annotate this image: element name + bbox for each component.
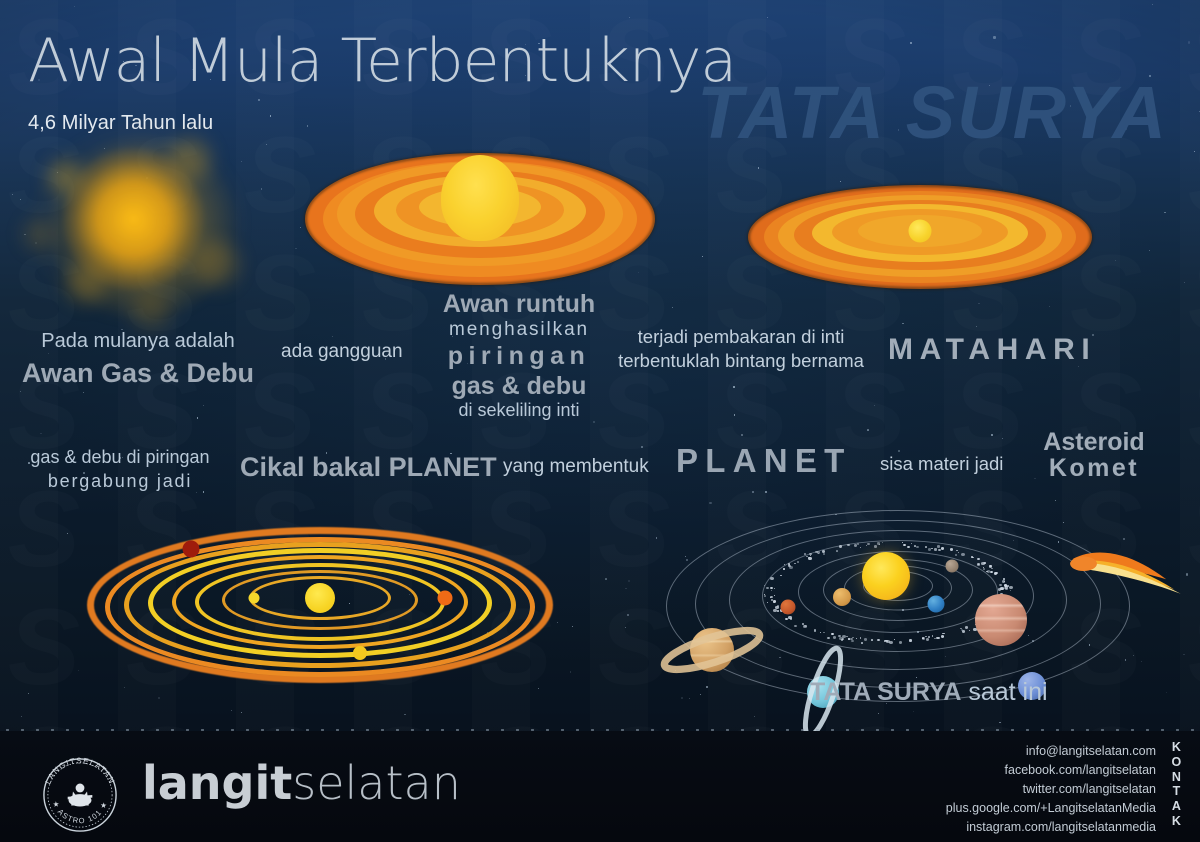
star (557, 622, 558, 623)
star (765, 491, 767, 493)
contact-line[interactable]: twitter.com/langitselatan (946, 780, 1156, 799)
star (1164, 212, 1165, 213)
solar-system-art (663, 500, 1133, 700)
star (231, 710, 232, 711)
star (203, 405, 204, 406)
stage3-line2: menghasilkan (414, 319, 624, 340)
star (40, 433, 42, 435)
star (898, 450, 900, 452)
asteroid (794, 563, 796, 564)
star (20, 391, 21, 392)
asteroid (836, 550, 838, 552)
asteroid (767, 602, 768, 603)
kontak-letter: K (1172, 740, 1182, 755)
star (752, 491, 754, 493)
star (570, 671, 571, 672)
stage7-line1-asteroid: Asteroid (1018, 428, 1170, 456)
asteroid (827, 637, 830, 639)
protoplanet-yellow-small (249, 593, 260, 604)
stage3-line4: gas & debu (414, 372, 624, 400)
star-disk-art (748, 178, 1092, 296)
asteroid (937, 545, 940, 547)
stage5-line2: bergabung jadi (24, 471, 216, 491)
asteroid (770, 577, 774, 580)
asteroid (831, 633, 834, 635)
asteroid (986, 571, 988, 572)
protoplanet-red (182, 540, 199, 557)
mars (780, 600, 795, 615)
asteroid (877, 542, 880, 545)
asteroid (783, 568, 785, 569)
brand-light: selatan (292, 756, 461, 810)
star (1194, 151, 1195, 152)
asteroid (909, 639, 912, 641)
infographic-poster: Awal Mula Terbentuknya 4,6 Milyar Tahun … (0, 0, 1200, 842)
stage7-line2-komet: Komet (1018, 454, 1170, 482)
star (1141, 661, 1142, 662)
star (1049, 306, 1050, 307)
stage5-line1: gas & debu di piringan (24, 447, 216, 467)
star (300, 227, 301, 228)
sun (862, 552, 910, 600)
saturn (690, 628, 734, 672)
asteroid (941, 547, 945, 550)
star (874, 405, 875, 406)
star (1184, 282, 1185, 283)
stage4-line1: terjadi pembakaran di inti (612, 327, 870, 348)
star (672, 307, 673, 308)
asteroid (860, 547, 861, 548)
asteroid (983, 568, 985, 570)
star (913, 711, 914, 712)
mercury (946, 560, 959, 573)
asteroid (833, 636, 837, 639)
star (754, 716, 755, 717)
asteroid (907, 546, 910, 548)
asteroid (847, 544, 850, 546)
star (593, 421, 595, 423)
asteroid (983, 567, 984, 568)
solar-system-caption-bold: TATA SURYA (810, 678, 961, 706)
stage3-line5: di sekeliling inti (414, 400, 624, 420)
star (999, 722, 1000, 723)
contact-line[interactable]: instagram.com/langitselatanmedia (946, 818, 1156, 837)
star (993, 36, 995, 38)
star (627, 614, 629, 616)
star (258, 99, 260, 101)
star (21, 716, 22, 717)
star (74, 6, 75, 7)
stage6-label-planet: PLANET (676, 443, 852, 480)
asteroid (818, 553, 819, 554)
asteroid (820, 632, 821, 633)
star (629, 17, 631, 19)
star (78, 670, 79, 671)
asteroid (802, 623, 804, 625)
star (978, 303, 980, 305)
brand-wordmark: langitselatan (142, 760, 461, 806)
star (307, 125, 308, 126)
star (67, 533, 68, 534)
svg-text:LANGITSELATAN: LANGITSELATAN (43, 756, 116, 785)
venus (833, 588, 851, 606)
asteroid (994, 572, 997, 575)
solar-system-caption: TATA SURYA saat ini (810, 678, 1048, 706)
asteroid (857, 543, 859, 545)
kontak-letter: K (1172, 814, 1182, 829)
star (741, 434, 742, 435)
asteroid (788, 563, 791, 565)
contact-line[interactable]: facebook.com/langitselatan (946, 761, 1156, 780)
kontak-letter: A (1172, 799, 1182, 814)
star (1166, 692, 1167, 693)
star (28, 693, 29, 694)
footer-divider (0, 729, 1200, 731)
stage1-label-line1: Pada mulanya adalah (22, 330, 254, 352)
star (758, 167, 759, 168)
asteroid (958, 552, 959, 553)
star (702, 256, 703, 257)
asteroid (773, 609, 776, 612)
asteroid (874, 545, 877, 547)
asteroid (936, 637, 939, 640)
star (625, 627, 626, 628)
star (404, 714, 405, 715)
asteroid (854, 544, 857, 547)
asteroid (804, 553, 805, 554)
kontak-letter: T (1172, 784, 1182, 799)
star (867, 429, 869, 431)
brand-bold: langit (142, 756, 292, 810)
contact-line[interactable]: plus.google.com/+LangitselatanMedia (946, 799, 1156, 818)
asteroid (842, 635, 846, 638)
asteroid (886, 640, 888, 642)
star (628, 580, 630, 582)
protoplanet-yellow (353, 646, 367, 660)
asteroid (884, 640, 886, 642)
asteroid (867, 543, 870, 545)
star (203, 491, 204, 492)
asteroid (990, 571, 993, 573)
star (158, 697, 160, 699)
stage4-label-matahari: MATAHARI (888, 333, 1096, 367)
asteroid (814, 629, 817, 631)
asteroid (1003, 578, 1005, 580)
asteroid (850, 638, 853, 640)
star (605, 578, 607, 580)
planetesimal-disk-art (85, 520, 555, 690)
star (767, 17, 768, 18)
seal-emblem-icon (68, 784, 93, 807)
kontak-letter: O (1172, 755, 1182, 770)
star (733, 386, 734, 387)
asteroid (770, 587, 773, 589)
star (641, 446, 643, 448)
asteroid (809, 553, 811, 555)
stage2-label: ada gangguan (281, 341, 403, 362)
star (1183, 654, 1185, 656)
kontak-letter: N (1172, 770, 1182, 785)
star (197, 417, 198, 418)
star (910, 42, 912, 44)
star (1002, 438, 1003, 439)
stage1-label-line2: Awan Gas & Debu (14, 358, 262, 388)
kontak-vertical-label: KONTAK (1172, 740, 1182, 829)
contact-line[interactable]: info@langitselatan.com (946, 742, 1156, 761)
gas-dust-cloud-art (18, 118, 258, 328)
comet-icon (1067, 540, 1191, 602)
star (83, 392, 84, 393)
jupiter (975, 594, 1027, 646)
star (1152, 4, 1153, 5)
star (991, 434, 993, 436)
star (241, 712, 242, 713)
star (878, 713, 879, 714)
asteroid (808, 557, 811, 560)
star (1115, 260, 1116, 261)
protoplanetary-disk-art (305, 143, 655, 295)
stage3-line3: piringan (414, 342, 624, 370)
asteroid (931, 548, 933, 549)
asteroid (780, 575, 782, 577)
asteroid (785, 618, 788, 621)
langitselatan-seal-logo: LANGITSELATAN ★ ASTRO 101 ★ (36, 751, 124, 839)
star (48, 353, 49, 354)
asteroid (925, 546, 927, 548)
star (572, 626, 573, 627)
asteroid (934, 548, 937, 550)
asteroid (866, 545, 867, 546)
star (1149, 250, 1150, 251)
page-title: Awal Mula Terbentuknya (28, 26, 736, 96)
asteroid (977, 558, 980, 561)
star (332, 336, 333, 337)
stage5-label: Cikal bakal PLANET (240, 452, 497, 482)
stage4-line2: terbentuklah bintang bernama (602, 351, 880, 372)
star (196, 492, 197, 493)
protoplanet-orange (437, 591, 452, 606)
asteroid (804, 625, 807, 627)
asteroid (1009, 586, 1013, 589)
star (656, 537, 657, 538)
star (270, 115, 272, 117)
big-title-tata-surya: TATA SURYA (697, 70, 1168, 155)
star (734, 414, 736, 416)
asteroid (991, 568, 992, 569)
proto-sun (305, 583, 335, 613)
stage7-connector: sisa materi jadi (880, 454, 1003, 475)
stage6-connector: yang membentuk (503, 456, 649, 477)
asteroid (764, 595, 766, 597)
asteroid (861, 642, 863, 644)
star (902, 323, 903, 324)
star (1188, 41, 1190, 43)
star (295, 248, 296, 249)
stage3-line1: Awan runtuh (414, 290, 624, 318)
contact-list: info@langitselatan.comfacebook.com/langi… (946, 742, 1156, 837)
solar-system-caption-light: saat ini (961, 678, 1047, 706)
asteroid (790, 618, 792, 620)
asteroid (989, 565, 992, 567)
asteroid (770, 597, 771, 598)
asteroid (922, 637, 924, 639)
star (625, 588, 626, 589)
earth (927, 596, 944, 613)
star (976, 326, 977, 327)
asteroid (962, 630, 966, 633)
asteroid (775, 606, 778, 609)
asteroid (839, 545, 842, 548)
seal-top-text: LANGITSELATAN (43, 756, 116, 785)
